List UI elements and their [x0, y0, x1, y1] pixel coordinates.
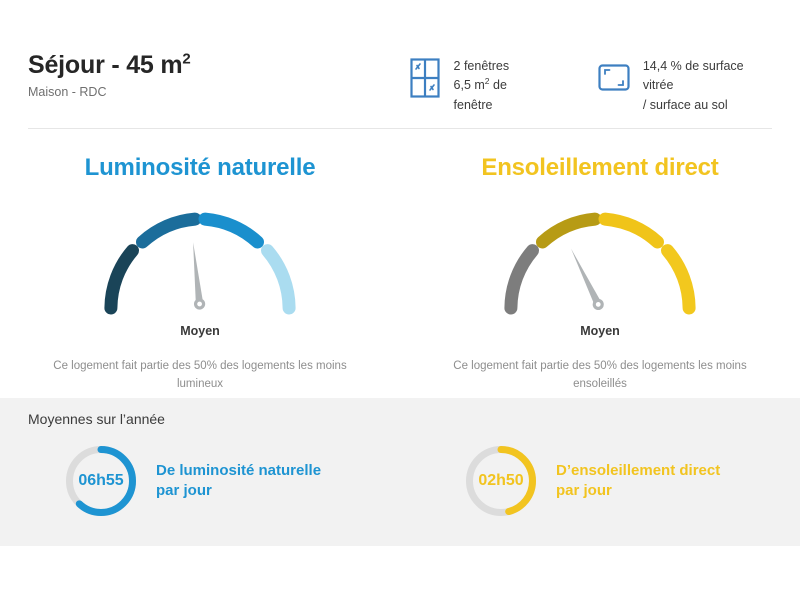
stat-windows: 2 fenêtres 6,5 m2 de fenêtre [408, 57, 545, 115]
header-inner: Séjour - 45 m2 Maison - RDC [28, 52, 772, 115]
gauge-heading-luminosite: Luminosité naturelle [0, 154, 400, 182]
average-item-ensoleillement: 02h50 D’ensoleillement direct par jour [400, 442, 800, 520]
averages-title: Moyennes sur l’année [28, 411, 165, 427]
page-title: Séjour - 45 m2 [28, 52, 408, 78]
title-block: Séjour - 45 m2 Maison - RDC [28, 52, 408, 99]
gauge-segment-2 [143, 219, 196, 242]
header-divider [28, 128, 772, 129]
gauge-heading-ensoleillement: Ensoleillement direct [400, 154, 800, 182]
gauge-segment-4 [268, 251, 290, 308]
average-item-luminosite: 06h55 De luminosité naturelle par jour [0, 442, 400, 520]
footer-spacer [0, 546, 800, 600]
gauge-needle-luminosite [188, 242, 206, 310]
average-label-ensoleillement: D’ensoleillement direct par jour [556, 461, 720, 502]
gauge-ensoleillement [485, 198, 715, 318]
gauge-segment-2 [543, 219, 596, 242]
average-label-luminosite: De luminosité naturelle par jour [156, 461, 321, 502]
gauges-section: Luminosité naturelle Moyen Ce logement f… [0, 132, 800, 396]
gauge-caption-ensoleillement: Ce logement fait partie des 50% des loge… [435, 358, 765, 394]
stat-glazing-text: 14,4 % de surface vitrée / surface au so… [643, 57, 772, 115]
header: Séjour - 45 m2 Maison - RDC [0, 0, 800, 130]
floor-area-icon [597, 57, 631, 97]
gauge-segment-1 [511, 251, 533, 308]
gauge-segment-3 [205, 219, 258, 242]
gauge-segment-3 [605, 219, 658, 242]
stat-windows-line2: 6,5 m2 de fenêtre [454, 76, 545, 115]
stat-windows-line1: 2 fenêtres [454, 57, 545, 76]
donut-value-luminosite: 06h55 [62, 442, 140, 520]
gauge-luminosite [85, 198, 315, 318]
stat-glazing-line1: 14,4 % de surface vitrée [643, 57, 772, 96]
stat-glazing: 14,4 % de surface vitrée / surface au so… [597, 57, 772, 115]
stat-windows-line2-pre: 6,5 m [454, 78, 485, 92]
averages-items: 06h55 De luminosité naturelle par jour 0… [0, 442, 800, 520]
gauge-needle-ensoleillement [566, 246, 606, 312]
gauge-caption-luminosite: Ce logement fait partie des 50% des loge… [35, 358, 365, 394]
averages-section: Moyennes sur l’année 06h55 De luminosité… [0, 398, 800, 546]
gauge-label-ensoleillement: Moyen [400, 324, 800, 338]
header-stats: 2 fenêtres 6,5 m2 de fenêtre 14,4 % de s… [408, 52, 772, 115]
stat-windows-text: 2 fenêtres 6,5 m2 de fenêtre [454, 57, 545, 115]
gauge-segment-4 [668, 251, 690, 308]
donut-value-ensoleillement: 02h50 [462, 442, 540, 520]
gauge-segment-1 [111, 251, 133, 308]
page-title-superscript: 2 [182, 51, 190, 68]
gauge-label-luminosite: Moyen [0, 324, 400, 338]
page-subtitle: Maison - RDC [28, 85, 408, 99]
page-title-text: Séjour - 45 m [28, 51, 182, 79]
gauge-panel-ensoleillement: Ensoleillement direct Moyen Ce logement … [400, 132, 800, 396]
gauge-panel-luminosite: Luminosité naturelle Moyen Ce logement f… [0, 132, 400, 396]
donut-luminosite: 06h55 [62, 442, 140, 520]
donut-ensoleillement: 02h50 [462, 442, 540, 520]
stat-glazing-line2: / surface au sol [643, 96, 772, 115]
window-icon [408, 57, 442, 97]
